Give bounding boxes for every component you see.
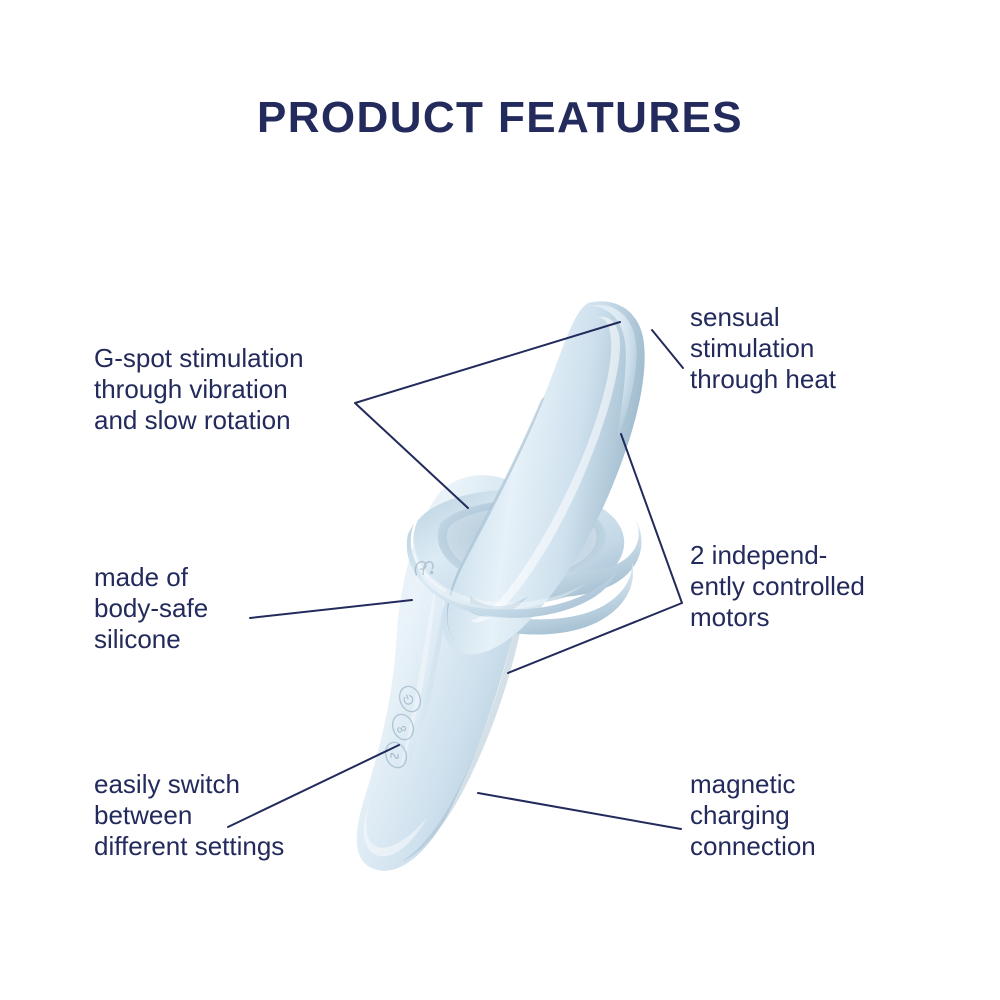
svg-text:∞: ∞	[394, 719, 409, 737]
page-title: PRODUCT FEATURES	[0, 93, 1000, 143]
callout-two-motors: 2 independ- ently controlled motors	[690, 540, 940, 633]
callout-easily-switch-settings: easily switch between different settings	[94, 769, 364, 862]
product-handle	[357, 475, 530, 871]
product-side-arm	[441, 512, 642, 635]
svg-text:∿: ∿	[386, 746, 402, 765]
svg-text:⏻: ⏻	[401, 691, 416, 709]
product-shaft	[442, 301, 644, 654]
callout-gspot-stimulation: G-spot stimulation through vibration and…	[94, 343, 394, 436]
callout-body-safe-silicone: made of body-safe silicone	[94, 562, 334, 655]
product-ring	[413, 489, 624, 605]
leader-gspot	[355, 322, 620, 508]
leader-magnetic	[478, 793, 681, 829]
satisfyer-logo-icon	[413, 558, 436, 578]
leader-sensual	[652, 330, 683, 368]
leader-motors	[508, 434, 682, 673]
product-ring-front	[407, 523, 616, 618]
callout-magnetic-charging: magnetic charging connection	[690, 769, 940, 862]
control-buttons[interactable]: ⏻ ∞ ∿	[382, 683, 424, 770]
product-features-infographic: PRODUCT FEATURES	[0, 0, 1000, 1000]
callout-sensual-heat: sensual stimulation through heat	[690, 302, 940, 395]
